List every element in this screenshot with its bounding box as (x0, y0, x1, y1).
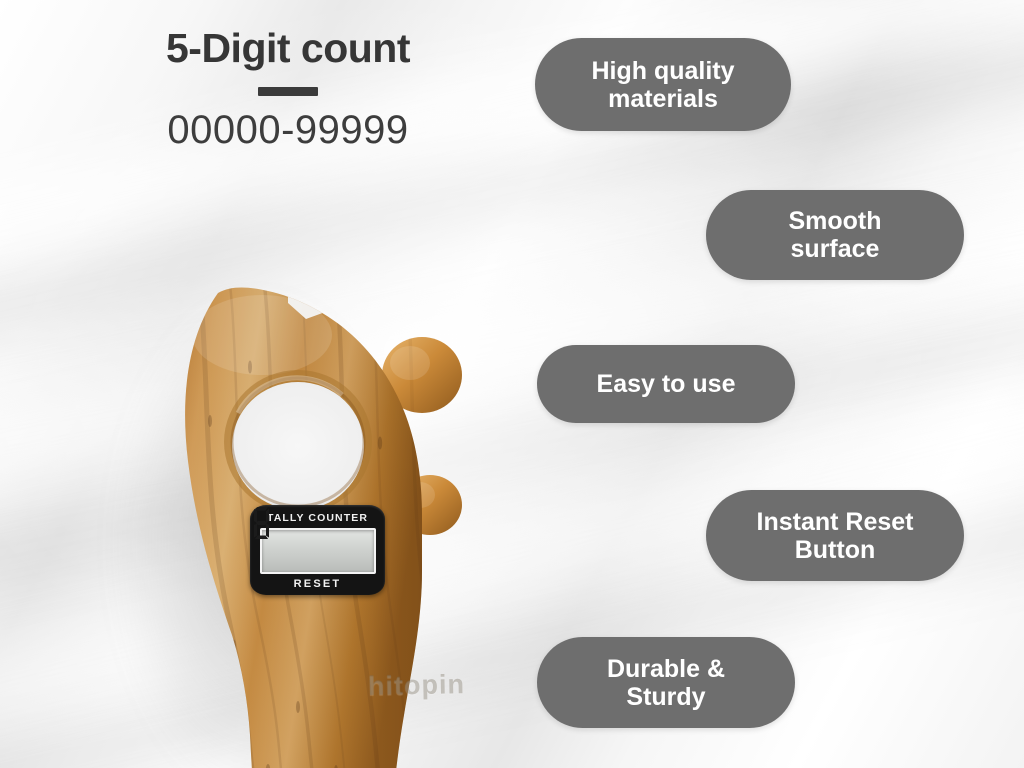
lcd-reset-label: RESET (250, 579, 385, 590)
feature-pill-instant-reset-button[interactable]: Instant ResetButton (706, 490, 964, 581)
feature-pill-line: Smooth (788, 207, 881, 235)
feature-pill-line: Instant Reset (757, 508, 914, 536)
feature-pill-line: surface (788, 235, 881, 263)
tally-counter-body-illustration (92, 215, 492, 768)
lcd-segment-e (254, 524, 257, 538)
headline-block: 5-Digit count 00000-99999 (78, 26, 498, 152)
feature-pill-label: Instant ResetButton (757, 508, 914, 564)
feature-pill-line: Sturdy (607, 683, 725, 711)
product-feature-graphic: 5-Digit count 00000-99999 High qualityma… (0, 0, 1024, 768)
feature-pill-high-quality-materials[interactable]: High qualitymaterials (535, 38, 791, 131)
lcd-segment-d (255, 536, 268, 540)
feature-pill-label: Durable &Sturdy (607, 655, 725, 711)
feature-pill-smooth-surface[interactable]: Smoothsurface (706, 190, 964, 280)
page-title: 5-Digit count (78, 26, 498, 71)
feature-pill-easy-to-use[interactable]: Easy to use (537, 345, 795, 423)
finger-ring-hole (224, 370, 372, 514)
lcd-segment-b (266, 509, 269, 524)
lcd-segment-c (266, 524, 269, 538)
lcd-segment-f (254, 509, 257, 524)
feature-pill-line: High quality (591, 57, 734, 85)
feature-pill-line: Easy to use (597, 370, 736, 398)
lcd-digit (250, 505, 273, 541)
feature-pill-line: Button (757, 536, 914, 564)
feature-pill-label: Smoothsurface (788, 207, 881, 263)
feature-pill-line: Durable & (607, 655, 725, 683)
title-divider-rule (258, 87, 318, 96)
count-range-label: 00000-99999 (78, 108, 498, 152)
lcd-segment-a (255, 507, 268, 511)
tally-counter-product: TALLY COUNTER RESET hitopin hitopin (92, 215, 492, 768)
lcd-display-module: TALLY COUNTER RESET (250, 505, 385, 595)
feature-pill-label: Easy to use (597, 370, 736, 398)
feature-pill-label: High qualitymaterials (591, 57, 734, 113)
feature-pill-line: materials (591, 85, 734, 113)
lcd-screen (260, 528, 376, 574)
lcd-segment-g (256, 521, 267, 525)
feature-pill-durable-and-sturdy[interactable]: Durable &Sturdy (537, 637, 795, 728)
